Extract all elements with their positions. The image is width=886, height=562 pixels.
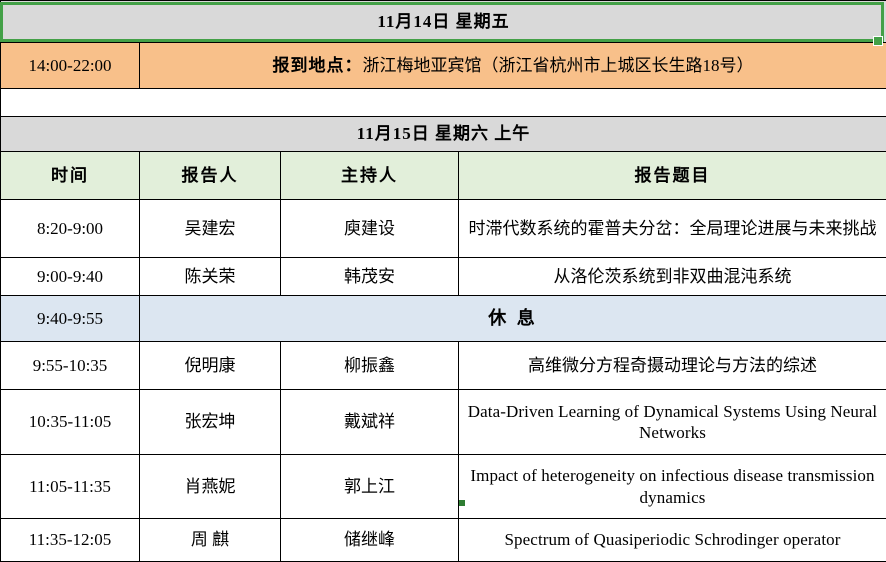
talk-speaker[interactable]: 周 麒 [140,519,281,562]
talk-speaker[interactable]: 张宏坤 [140,390,281,455]
talk-speaker[interactable]: 倪明康 [140,342,281,390]
schedule-table: 11月14日 星期五 14:00-22:00 报到地点：浙江梅地亚宾馆（浙江省杭… [0,0,886,562]
talk-title[interactable]: Spectrum of Quasiperiodic Schrodinger op… [459,519,886,562]
registration-place-cell[interactable]: 报到地点：浙江梅地亚宾馆（浙江省杭州市上城区长生路18号） [140,43,886,89]
talk-speaker[interactable]: 肖燕妮 [140,455,281,519]
break-row[interactable]: 9:40-9:55 休 息 [1,296,886,342]
column-header-chair[interactable]: 主持人 [281,152,459,200]
table-row[interactable]: 11:05-11:35 肖燕妮 郭上江 Impact of heterogene… [1,455,886,519]
talk-speaker[interactable]: 陈关荣 [140,258,281,296]
talk-chair[interactable]: 庾建设 [281,200,459,258]
day1-header-row[interactable]: 11月14日 星期五 [1,1,886,43]
table-row[interactable]: 9:55-10:35 倪明康 柳振鑫 高维微分方程奇摄动理论与方法的综述 [1,342,886,390]
talk-title[interactable]: 从洛伦茨系统到非双曲混沌系统 [459,258,886,296]
table-row[interactable]: 8:20-9:00 吴建宏 庾建设 时滞代数系统的霍普夫分岔：全局理论进展与未来… [1,200,886,258]
talk-chair[interactable]: 韩茂安 [281,258,459,296]
talk-chair[interactable]: 柳振鑫 [281,342,459,390]
talk-title[interactable]: Impact of heterogeneity on infectious di… [459,455,886,519]
day1-header-cell[interactable]: 11月14日 星期五 [1,1,886,43]
talk-chair[interactable]: 郭上江 [281,455,459,519]
column-header-title[interactable]: 报告题目 [459,152,886,200]
schedule-sheet: 11月14日 星期五 14:00-22:00 报到地点：浙江梅地亚宾馆（浙江省杭… [0,0,886,542]
talk-time[interactable]: 10:35-11:05 [1,390,140,455]
spacer-cell[interactable] [1,89,886,117]
talk-title[interactable]: Data-Driven Learning of Dynamical System… [459,390,886,455]
talk-chair[interactable]: 戴斌祥 [281,390,459,455]
talk-time[interactable]: 9:00-9:40 [1,258,140,296]
table-row[interactable]: 10:35-11:05 张宏坤 戴斌祥 Data-Driven Learning… [1,390,886,455]
break-label-cell[interactable]: 休 息 [140,296,886,342]
talk-title[interactable]: 时滞代数系统的霍普夫分岔：全局理论进展与未来挑战 [459,200,886,258]
day2-header-row[interactable]: 11月15日 星期六 上午 [1,117,886,152]
talk-time[interactable]: 9:55-10:35 [1,342,140,390]
column-header-time[interactable]: 时间 [1,152,140,200]
registration-place-text: 浙江梅地亚宾馆（浙江省杭州市上城区长生路18号） [363,56,754,75]
registration-row[interactable]: 14:00-22:00 报到地点：浙江梅地亚宾馆（浙江省杭州市上城区长生路18号… [1,43,886,89]
talk-speaker[interactable]: 吴建宏 [140,200,281,258]
spacer-row[interactable] [1,89,886,117]
talk-title[interactable]: 高维微分方程奇摄动理论与方法的综述 [459,342,886,390]
column-header-speaker[interactable]: 报告人 [140,152,281,200]
registration-label: 报到地点： [273,56,363,75]
column-header-row[interactable]: 时间 报告人 主持人 报告题目 [1,152,886,200]
talk-time[interactable]: 8:20-9:00 [1,200,140,258]
talk-time[interactable]: 11:35-12:05 [1,519,140,562]
table-row[interactable]: 9:00-9:40 陈关荣 韩茂安 从洛伦茨系统到非双曲混沌系统 [1,258,886,296]
table-row[interactable]: 11:35-12:05 周 麒 储继峰 Spectrum of Quasiper… [1,519,886,562]
talk-time[interactable]: 11:05-11:35 [1,455,140,519]
registration-time-cell[interactable]: 14:00-22:00 [1,43,140,89]
day2-header-cell[interactable]: 11月15日 星期六 上午 [1,117,886,152]
talk-chair[interactable]: 储继峰 [281,519,459,562]
break-time[interactable]: 9:40-9:55 [1,296,140,342]
